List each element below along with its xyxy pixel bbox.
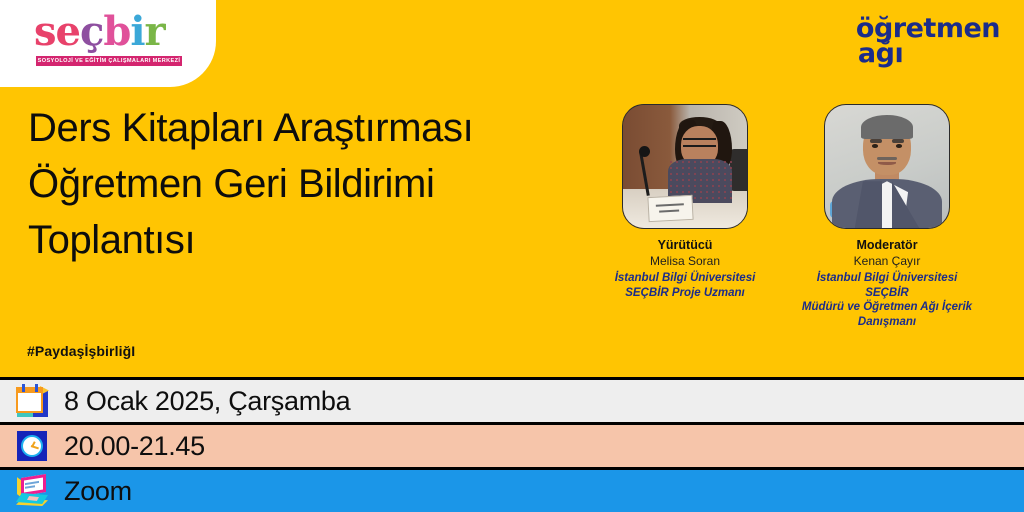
secbir-letter-i: i — [130, 10, 144, 54]
secbir-letter-b: b — [103, 10, 130, 54]
photo-glasses — [683, 138, 716, 147]
ogretmen-agi-line2: ağı — [856, 41, 1000, 66]
speaker-card-moderator: Moderatör Kenan Çayır İstanbul Bilgi Üni… — [797, 104, 977, 329]
secbir-wordmark: seçbir — [34, 10, 184, 54]
calendar-notepad-icon — [14, 383, 50, 419]
speaker-name: Melisa Soran — [595, 253, 775, 269]
page-title: Ders Kitapları Araştırması Öğretmen Geri… — [28, 100, 598, 268]
secbir-letter-e: e — [56, 10, 80, 54]
speaker-photo-kenan-cayir — [824, 104, 950, 229]
secbir-letter-r: r — [145, 10, 165, 54]
speaker-affiliation: İstanbul Bilgi Üniversitesi SEÇBİR Proje… — [595, 271, 775, 300]
info-bar-date: 8 Ocak 2025, Çarşamba — [0, 377, 1024, 422]
photo-eye-right — [896, 144, 902, 148]
nameplate-line-1 — [655, 203, 683, 206]
speaker-affiliation-line-1: İstanbul Bilgi Üniversitesi — [595, 271, 775, 286]
secbir-tagline: SOSYOLOJİ VE EĞİTİM ÇALIŞMALARI MERKEZİ — [36, 56, 182, 66]
title-line-1: Ders Kitapları Araştırması — [28, 100, 598, 156]
secbir-logo: seçbir SOSYOLOJİ VE EĞİTİM ÇALIŞMALARI M… — [34, 10, 184, 72]
speaker-affiliation-line-2: SEÇBİR Proje Uzmanı — [595, 286, 775, 301]
event-info-bars: 8 Ocak 2025, Çarşamba 20.00-21.45 Zoom — [0, 377, 1024, 512]
event-date-text: 8 Ocak 2025, Çarşamba — [64, 385, 350, 417]
photo-moustache — [877, 157, 897, 161]
speaker-affiliation-line-3: Danışmanı — [797, 315, 977, 330]
event-poster: seçbir SOSYOLOJİ VE EĞİTİM ÇALIŞMALARI M… — [0, 0, 1024, 512]
secbir-letter-c: ç — [80, 10, 103, 54]
speaker-name: Kenan Çayır — [797, 253, 977, 269]
photo-eyebrow-right — [892, 139, 904, 142]
clock-icon — [14, 428, 50, 464]
photo-hair — [861, 115, 913, 140]
ogretmen-agi-logo: öğretmen ağı — [856, 16, 1000, 66]
photo-chair — [730, 149, 747, 191]
event-time-text: 20.00-21.45 — [64, 430, 205, 462]
secbir-letter-s: s — [34, 10, 56, 54]
speaker-affiliation-line-2: Müdürü ve Öğretmen Ağı İçerik — [797, 300, 977, 315]
event-platform-text: Zoom — [64, 475, 132, 507]
hashtag: #PaydaşİşbirliğI — [27, 343, 135, 359]
photo-eyebrow-left — [870, 139, 882, 142]
nameplate-line-2 — [659, 210, 679, 213]
speaker-role: Yürütücü — [595, 238, 775, 253]
title-line-3: Toplantısı — [28, 212, 598, 268]
title-line-2: Öğretmen Geri Bildirimi — [28, 156, 598, 212]
secbir-logo-panel: seçbir SOSYOLOJİ VE EĞİTİM ÇALIŞMALARI M… — [0, 0, 216, 87]
speaker-card-yurutucu: Yürütücü Melisa Soran İstanbul Bilgi Üni… — [595, 104, 775, 329]
speaker-affiliation-line-1: İstanbul Bilgi Üniversitesi SEÇBİR — [797, 271, 977, 300]
laptop-icon — [14, 473, 50, 509]
photo-nameplate — [647, 195, 693, 222]
speaker-affiliation: İstanbul Bilgi Üniversitesi SEÇBİR Müdür… — [797, 271, 977, 329]
speaker-role: Moderatör — [797, 238, 977, 253]
photo-microphone-head — [639, 146, 650, 157]
info-bar-time: 20.00-21.45 — [0, 422, 1024, 467]
speaker-list: Yürütücü Melisa Soran İstanbul Bilgi Üni… — [595, 104, 1005, 329]
speaker-photo-melisa-soran — [622, 104, 748, 229]
info-bar-platform: Zoom — [0, 467, 1024, 512]
